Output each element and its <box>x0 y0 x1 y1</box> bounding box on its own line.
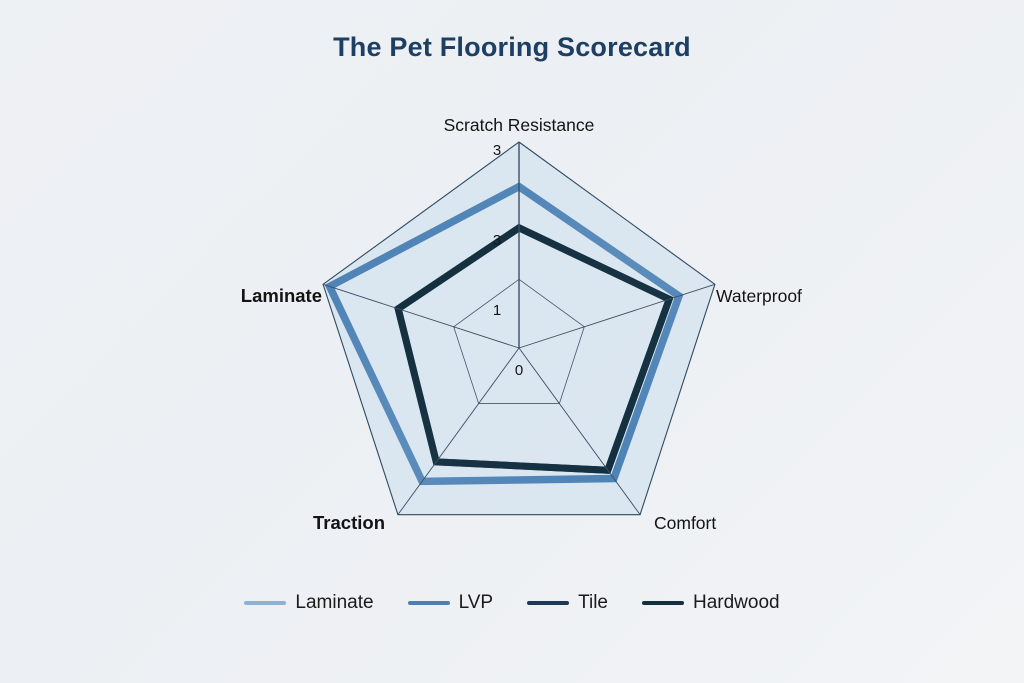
legend-item-lvp[interactable]: LVP <box>408 592 494 614</box>
legend-swatch-icon <box>244 601 286 605</box>
legend-swatch-icon <box>408 601 450 605</box>
chart-legend: LaminateLVPTileHardwood <box>0 592 1024 614</box>
legend-label: Tile <box>578 592 608 614</box>
radar-tick-label: 3 <box>493 232 501 249</box>
legend-swatch-icon <box>642 601 684 605</box>
legend-swatch-icon <box>527 601 569 605</box>
axis-label-comfort: Comfort <box>654 513 716 533</box>
axis-label-traction: Traction <box>313 512 385 533</box>
radar-chart: 0133 Scratch ResistanceWaterproofComfort… <box>0 0 1024 683</box>
legend-label: LVP <box>459 592 494 614</box>
legend-item-laminate[interactable]: Laminate <box>244 592 373 614</box>
axis-label-waterproof: Waterproof <box>716 286 802 306</box>
radar-tick-label: 3 <box>493 142 501 159</box>
legend-item-hardwood[interactable]: Hardwood <box>642 592 780 614</box>
legend-label: Hardwood <box>693 592 780 614</box>
axis-label-scratch-resistance: Scratch Resistance <box>444 115 595 135</box>
legend-item-tile[interactable]: Tile <box>527 592 608 614</box>
radar-tick-label: 1 <box>493 302 501 319</box>
chart-page: The Pet Flooring Scorecard 0133 Scratch … <box>0 0 1024 683</box>
axis-label-laminate: Laminate <box>241 285 322 306</box>
legend-label: Laminate <box>295 592 373 614</box>
radar-tick-label: 0 <box>515 362 523 379</box>
